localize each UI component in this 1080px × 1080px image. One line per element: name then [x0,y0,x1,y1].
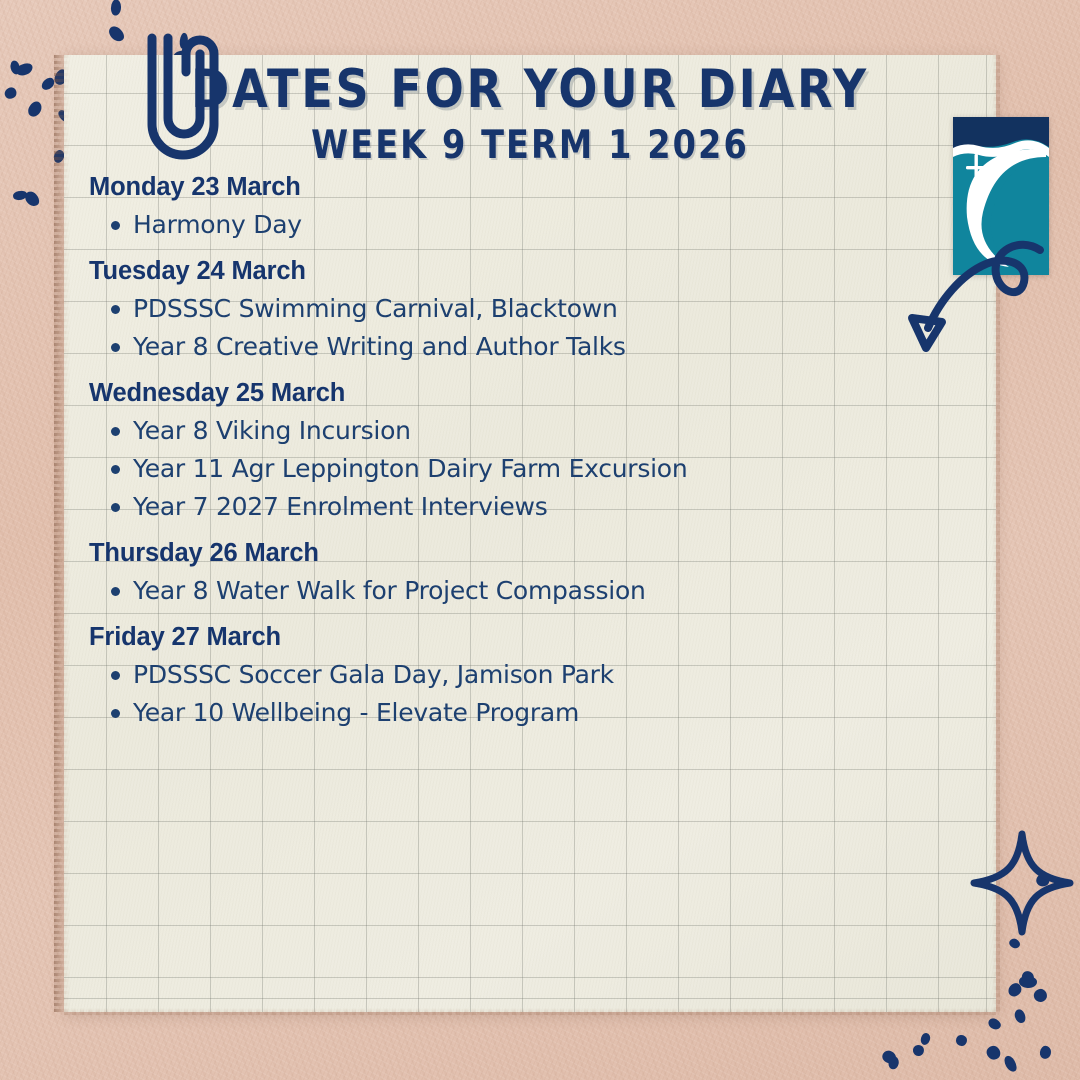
day-block: Monday 23 March Harmony Day [89,173,886,244]
page-title: DATES FOR YOUR DIARY [125,63,936,117]
day-block: Friday 27 March PDSSSC Soccer Gala Day, … [89,623,886,732]
list-item: Year 8 Creative Writing and Author Talks [105,328,886,366]
day-heading: Wednesday 25 March [89,379,886,408]
event-list: Harmony Day [89,206,886,244]
event-list: PDSSSC Soccer Gala Day, Jamison Park Yea… [89,656,886,732]
paper-torn-left-edge [54,55,70,1012]
list-item: Harmony Day [105,206,886,244]
day-block: Wednesday 25 March Year 8 Viking Incursi… [89,379,886,526]
list-item: PDSSSC Swimming Carnival, Blacktown [105,290,886,328]
event-list: Year 8 Water Walk for Project Compassion [89,572,886,610]
poster-canvas: DATES FOR YOUR DIARY WEEK 9 TERM 1 2026 … [0,0,1080,1080]
poster-header: DATES FOR YOUR DIARY WEEK 9 TERM 1 2026 [64,63,996,165]
day-block: Tuesday 24 March PDSSSC Swimming Carniva… [89,257,886,366]
day-heading: Monday 23 March [89,173,886,202]
list-item: PDSSSC Soccer Gala Day, Jamison Park [105,656,886,694]
schedule-list: Monday 23 March Harmony Day Tuesday 24 M… [89,173,886,745]
event-list: Year 8 Viking Incursion Year 11 Agr Lepp… [89,412,886,526]
day-heading: Friday 27 March [89,623,886,652]
day-heading: Thursday 26 March [89,539,886,568]
list-item: Year 11 Agr Leppington Dairy Farm Excurs… [105,450,886,488]
event-list: PDSSSC Swimming Carnival, Blacktown Year… [89,290,886,366]
list-item: Year 8 Water Walk for Project Compassion [105,572,886,610]
list-item: Year 7 2027 Enrolment Interviews [105,488,886,526]
list-item: Year 8 Viking Incursion [105,412,886,450]
paper-torn-bottom-edge [64,1008,996,1015]
page-subtitle: WEEK 9 TERM 1 2026 [129,126,931,165]
day-block: Thursday 26 March Year 8 Water Walk for … [89,539,886,610]
grid-paper-sheet: DATES FOR YOUR DIARY WEEK 9 TERM 1 2026 … [64,55,996,1012]
school-crest-logo [953,117,1049,275]
day-heading: Tuesday 24 March [89,257,886,286]
list-item: Year 10 Wellbeing - Elevate Program [105,694,886,732]
